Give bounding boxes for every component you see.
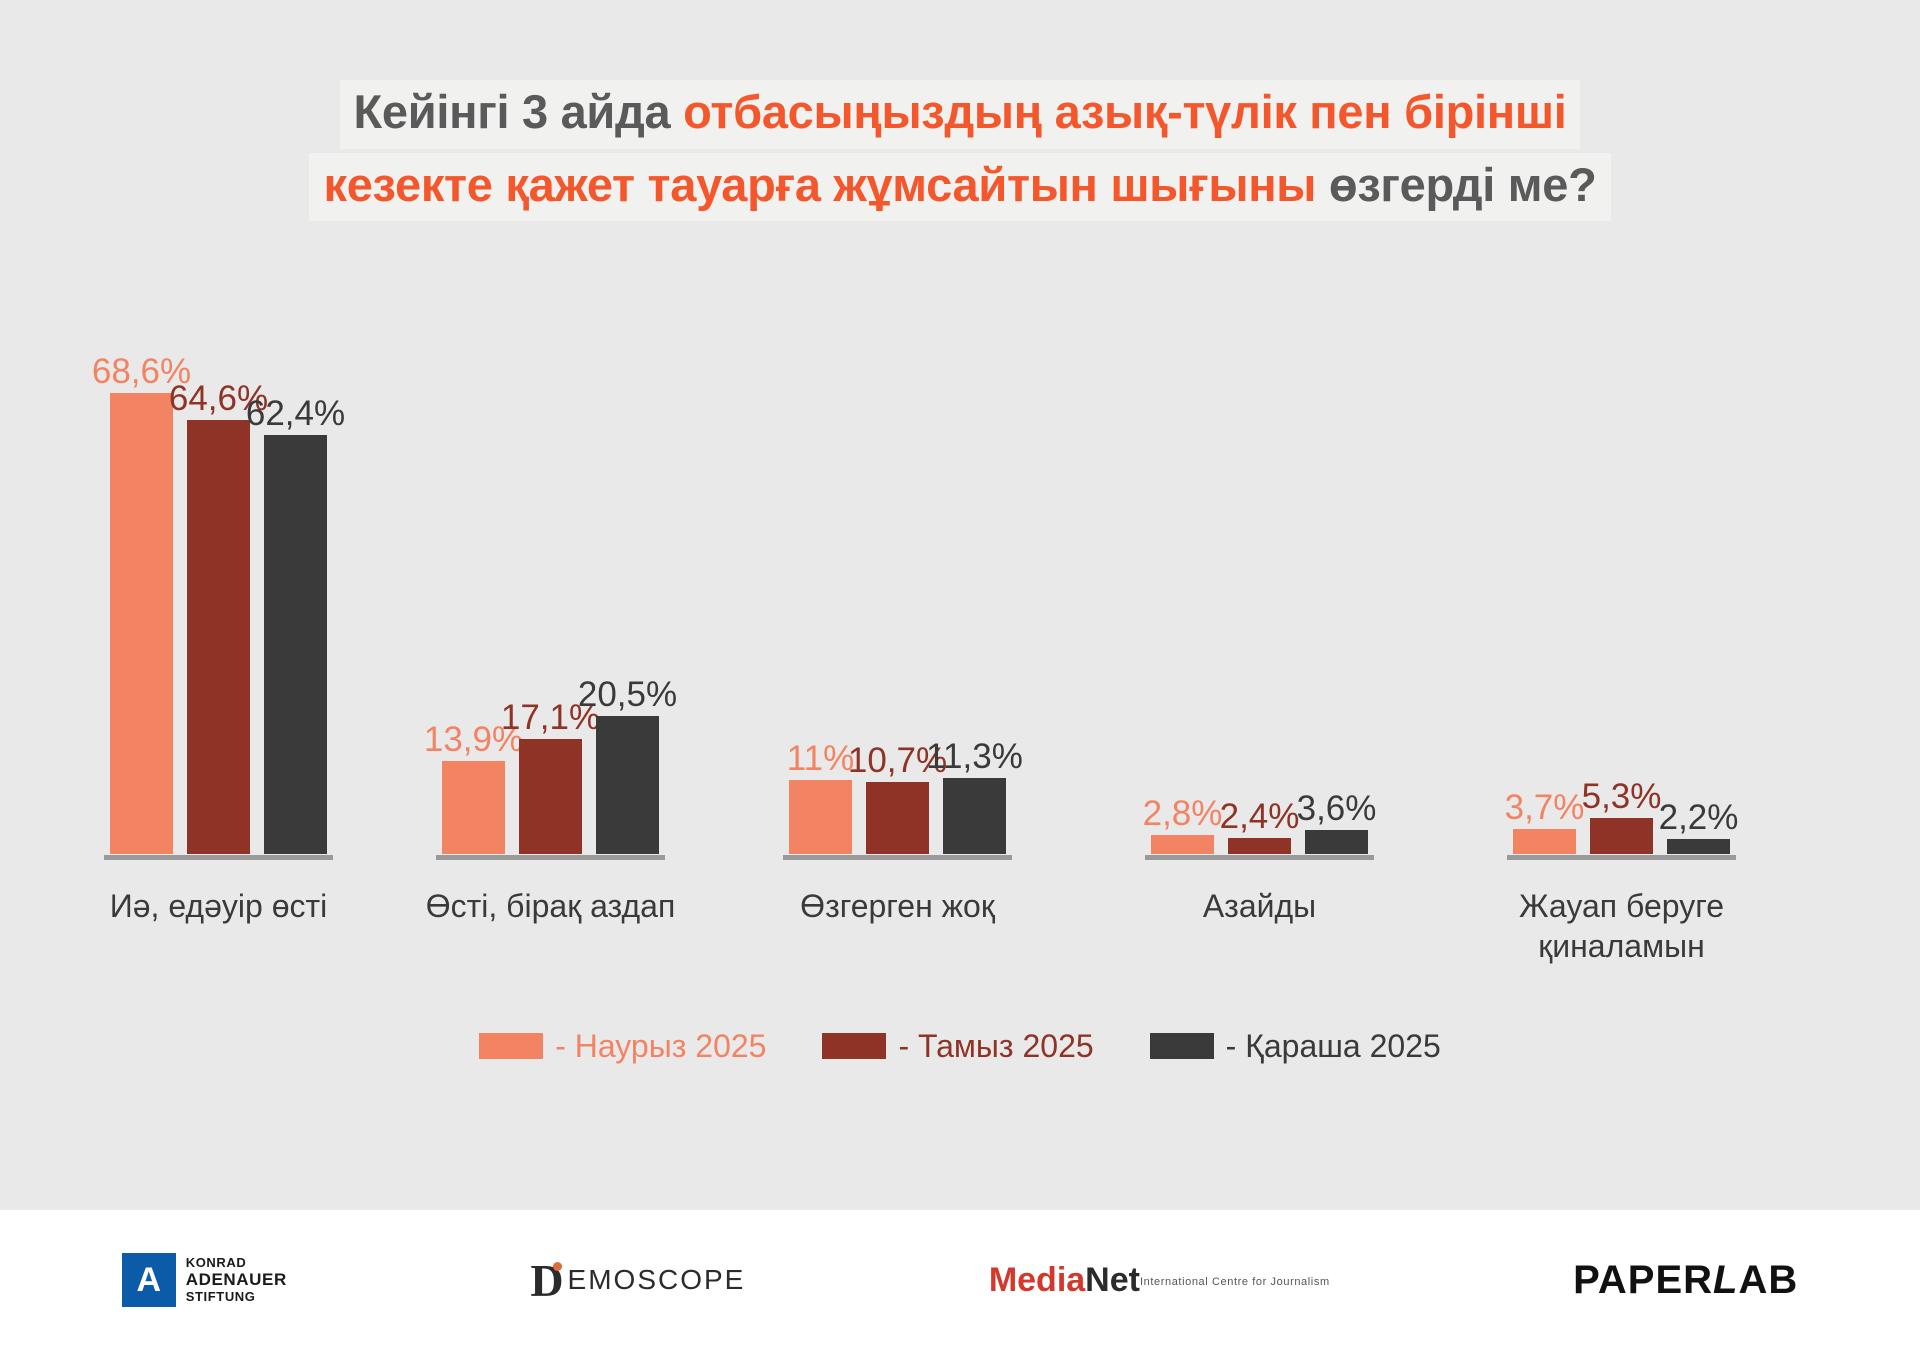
bar-chart: 68,6%64,6%62,4%Иә, едәуір өсті13,9%17,1%…	[0, 300, 1920, 910]
kas-wordmark: KONRAD ADENAUER STIFTUNG	[186, 1256, 287, 1304]
bar-1-2[interactable]: 64,6%	[187, 420, 250, 854]
medianet-wordmark: MediaNet	[989, 1263, 1140, 1297]
bar-rect[interactable]	[1151, 835, 1214, 854]
bar-rect[interactable]	[1305, 830, 1368, 854]
group-baseline	[1507, 855, 1736, 860]
bar-value-label: 62,4%	[246, 396, 345, 431]
bar-2-2[interactable]: 17,1%	[519, 739, 582, 854]
bar-3-1[interactable]: 11%	[789, 780, 852, 854]
bar-value-label: 20,5%	[578, 677, 677, 712]
bar-3-3[interactable]: 11,3%	[943, 778, 1006, 854]
bar-rect[interactable]	[519, 739, 582, 854]
medianet-part-media: Media	[989, 1261, 1085, 1299]
bar-group-bars: 13,9%17,1%20,5%	[442, 300, 659, 860]
title-line-2-gray: өзгерді ме?	[1329, 158, 1597, 211]
bar-2-3[interactable]: 20,5%	[596, 716, 659, 854]
legend-item-1[interactable]: - Наурыз 2025	[479, 1030, 766, 1062]
category-label-3: Өзгерген жоқ	[688, 886, 1108, 926]
paperlab-part-l: L	[1713, 1258, 1738, 1303]
title-line-1-orange: отбасыңыздың азық-түлік пен бірінші	[683, 85, 1566, 138]
legend-swatch-icon	[822, 1033, 886, 1059]
title-line-2: кезекте қажет тауарға жұмсайтын шығыны ө…	[309, 153, 1610, 222]
bar-group-4: 2,8%2,4%3,6%Азайды	[1151, 300, 1368, 860]
bar-group-bars: 11%10,7%11,3%	[789, 300, 1006, 860]
bar-4-1[interactable]: 2,8%	[1151, 835, 1214, 854]
legend-swatch-icon	[1150, 1033, 1214, 1059]
bar-value-label: 2,2%	[1659, 800, 1739, 835]
title-line-1-gray: Кейінгі 3 айда	[354, 85, 684, 138]
bar-rect[interactable]	[1590, 818, 1653, 854]
logo-paperlab: PAPERLAB	[1573, 1258, 1798, 1303]
title-line-1-row: Кейінгі 3 айда отбасыңыздың азық-түлік п…	[0, 80, 1920, 153]
chart-title: Кейінгі 3 айда отбасыңыздың азық-түлік п…	[0, 80, 1920, 221]
category-label-4: Азайды	[1050, 886, 1470, 926]
bar-4-2[interactable]: 2,4%	[1228, 838, 1291, 854]
bar-rect[interactable]	[596, 716, 659, 854]
medianet-part-net: Net	[1085, 1261, 1140, 1299]
paperlab-part-paper: PAPER	[1573, 1258, 1713, 1303]
group-baseline	[1145, 855, 1374, 860]
bar-group-1: 68,6%64,6%62,4%Иә, едәуір өсті	[110, 300, 327, 860]
kas-mark-icon: A	[122, 1253, 176, 1307]
bar-group-bars: 68,6%64,6%62,4%	[110, 300, 327, 860]
legend-label: - Қараша 2025	[1226, 1030, 1441, 1062]
bar-rect[interactable]	[187, 420, 250, 854]
bar-value-label: 2,4%	[1220, 799, 1300, 834]
title-line-2-orange: кезекте қажет тауарға жұмсайтын шығыны	[323, 158, 1328, 211]
kas-line-1: KONRAD	[186, 1256, 287, 1271]
kas-line-2: ADENAUER	[186, 1270, 287, 1289]
chart-legend: - Наурыз 2025- Тамыз 2025- Қараша 2025	[0, 1030, 1920, 1062]
group-baseline	[436, 855, 665, 860]
bar-3-2[interactable]: 10,7%	[866, 782, 929, 854]
category-label-5: Жауап беруге қиналамын	[1412, 886, 1832, 966]
demoscope-wordmark: EMOSCOPE	[568, 1264, 746, 1296]
bar-value-label: 3,6%	[1297, 791, 1377, 826]
bar-4-3[interactable]: 3,6%	[1305, 830, 1368, 854]
title-line-1: Кейінгі 3 айда отбасыңыздың азық-түлік п…	[340, 80, 1581, 149]
medianet-subtitle: International Centre for Journalism	[1140, 1276, 1330, 1288]
bar-5-2[interactable]: 5,3%	[1590, 818, 1653, 854]
legend-item-2[interactable]: - Тамыз 2025	[822, 1030, 1093, 1062]
bar-group-bars: 2,8%2,4%3,6%	[1151, 300, 1368, 860]
bar-2-1[interactable]: 13,9%	[442, 761, 505, 854]
bar-rect[interactable]	[442, 761, 505, 854]
bar-rect[interactable]	[1228, 838, 1291, 854]
logo-konrad-adenauer-stiftung: A KONRAD ADENAUER STIFTUNG	[122, 1253, 287, 1307]
paperlab-part-ab: AB	[1738, 1258, 1798, 1303]
bar-value-label: 5,3%	[1582, 779, 1662, 814]
bar-group-3: 11%10,7%11,3%Өзгерген жоқ	[789, 300, 1006, 860]
bar-value-label: 2,8%	[1143, 796, 1223, 831]
bar-group-5: 3,7%5,3%2,2%Жауап беруге қиналамын	[1513, 300, 1730, 860]
bar-rect[interactable]	[789, 780, 852, 854]
title-line-2-row: кезекте қажет тауарға жұмсайтын шығыны ө…	[0, 153, 1920, 222]
group-baseline	[104, 855, 333, 860]
demoscope-dot-icon	[553, 1262, 562, 1271]
kas-line-3: STIFTUNG	[186, 1290, 287, 1305]
bar-1-1[interactable]: 68,6%	[110, 393, 173, 854]
bar-value-label: 3,7%	[1505, 790, 1585, 825]
bar-value-label: 11%	[787, 741, 854, 776]
group-baseline	[783, 855, 1012, 860]
logo-demoscope: D EMOSCOPE	[530, 1254, 745, 1307]
footer-logos: A KONRAD ADENAUER STIFTUNG D EMOSCOPE Me…	[0, 1210, 1920, 1350]
bar-5-3[interactable]: 2,2%	[1667, 839, 1730, 854]
bar-1-3[interactable]: 62,4%	[264, 435, 327, 854]
demoscope-initial: D	[530, 1254, 563, 1307]
logo-medianet: MediaNet International Centre for Journa…	[989, 1263, 1330, 1297]
legend-item-3[interactable]: - Қараша 2025	[1150, 1030, 1441, 1062]
bar-rect[interactable]	[110, 393, 173, 854]
bar-rect[interactable]	[1513, 829, 1576, 854]
bar-rect[interactable]	[866, 782, 929, 854]
legend-swatch-icon	[479, 1033, 543, 1059]
bar-rect[interactable]	[1667, 839, 1730, 854]
chart-plot-area: 68,6%64,6%62,4%Иә, едәуір өсті13,9%17,1%…	[110, 300, 1830, 860]
legend-label: - Наурыз 2025	[555, 1030, 766, 1062]
bar-5-1[interactable]: 3,7%	[1513, 829, 1576, 854]
bar-group-bars: 3,7%5,3%2,2%	[1513, 300, 1730, 860]
bar-rect[interactable]	[943, 778, 1006, 854]
bar-rect[interactable]	[264, 435, 327, 854]
bar-group-2: 13,9%17,1%20,5%Өсті, бірақ аздап	[442, 300, 659, 860]
bar-value-label: 11,3%	[926, 739, 1023, 774]
legend-label: - Тамыз 2025	[898, 1030, 1093, 1062]
